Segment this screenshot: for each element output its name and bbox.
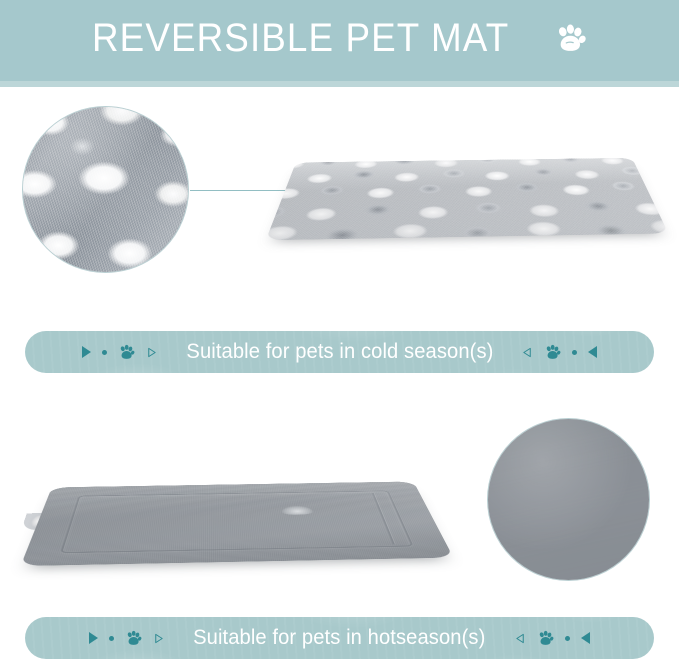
cold-season-banner: Suitable for pets in cold season(s)	[25, 331, 654, 373]
cold-banner-content: Suitable for pets in cold season(s)	[82, 340, 598, 364]
cold-season-banner-text: Suitable for pets in cold season(s)	[176, 340, 502, 364]
triangle-hollow-left-icon	[522, 347, 533, 358]
dot-icon	[102, 350, 107, 355]
dot-icon	[109, 636, 114, 641]
plush-fiber-overlay	[23, 107, 188, 272]
triangle-solid-right-icon	[89, 632, 98, 644]
cobblestone-speckle-overlay	[266, 158, 669, 240]
dot-icon	[572, 350, 577, 355]
header-content: REVERSIBLE PET MAT	[92, 16, 588, 61]
page-title: REVERSIBLE PET MAT	[92, 16, 509, 61]
hot-season-banner-text: Suitable for pets in hotseason(s)	[184, 626, 495, 650]
flat-fabric-shading	[488, 419, 649, 580]
plush-fabric-closeup-circle	[22, 106, 189, 273]
banner-decorations-left	[89, 630, 164, 647]
grey-side-mat	[28, 413, 448, 573]
paw-print-icon	[544, 344, 561, 361]
cobblestone-side-mat	[272, 97, 664, 245]
paw-print-icon	[553, 22, 587, 56]
cobblestone-mat-surface	[266, 158, 669, 240]
header-banner: REVERSIBLE PET MAT	[0, 0, 679, 81]
paw-print-icon	[537, 630, 554, 647]
grey-mat-stitched-border	[60, 490, 415, 553]
triangle-solid-left-icon	[581, 632, 590, 644]
grey-mat-surface	[20, 481, 453, 566]
triangle-hollow-right-icon	[146, 347, 157, 358]
triangle-solid-left-icon	[588, 346, 597, 358]
triangle-hollow-left-icon	[515, 633, 526, 644]
banner-decorations-left	[82, 344, 157, 361]
hot-banner-content: Suitable for pets in hotseason(s)	[89, 626, 589, 650]
triangle-hollow-right-icon	[153, 633, 164, 644]
cold-season-photo-group	[0, 87, 679, 312]
banner-decorations-right	[515, 630, 590, 647]
infographic-page: REVERSIBLE PET MAT	[0, 0, 679, 666]
flat-fabric-closeup-circle	[487, 418, 650, 581]
hot-season-banner: Suitable for pets in hotseason(s)	[25, 617, 654, 659]
paw-print-icon	[125, 630, 142, 647]
hot-season-photo-group	[0, 395, 679, 610]
dot-icon	[565, 636, 570, 641]
triangle-solid-right-icon	[82, 346, 91, 358]
paw-print-icon	[118, 344, 135, 361]
banner-decorations-right	[522, 344, 597, 361]
